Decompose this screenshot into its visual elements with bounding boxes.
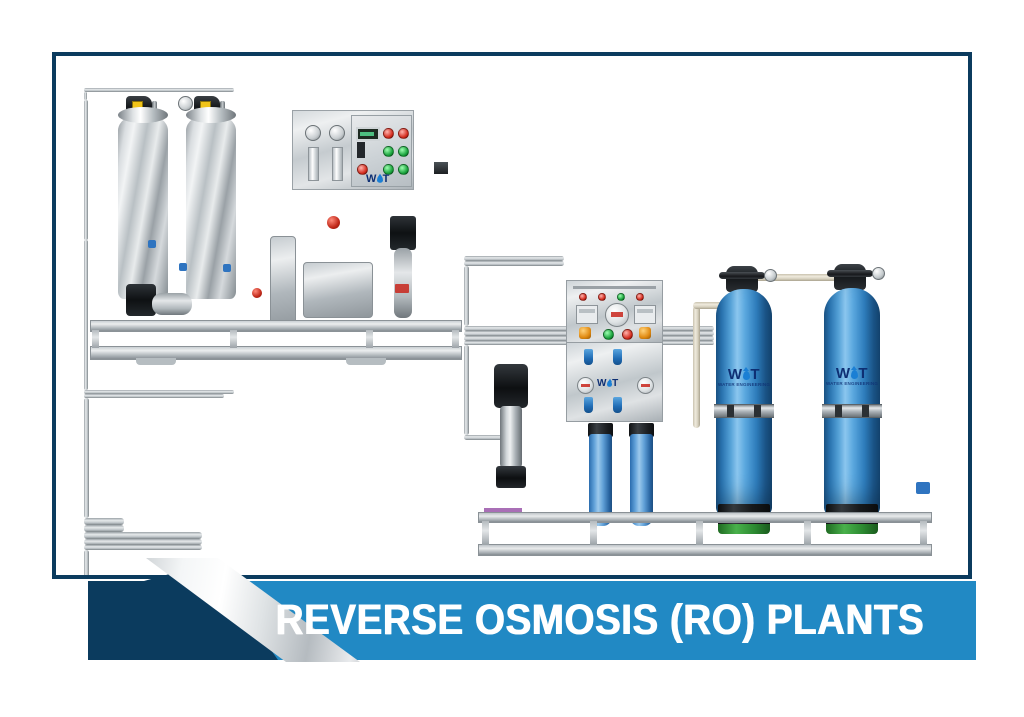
indicator-lamp-green xyxy=(603,329,614,340)
logo-t: T xyxy=(612,378,619,389)
indicator-lamp xyxy=(579,293,587,301)
rotameter xyxy=(332,147,343,181)
skid-leg xyxy=(590,521,597,545)
valve-handle xyxy=(827,270,873,277)
skid-leg xyxy=(482,521,489,545)
valve xyxy=(252,288,262,298)
valve xyxy=(179,263,187,271)
membrane-housing xyxy=(84,518,124,525)
vessel-band xyxy=(714,404,774,418)
skid-leg xyxy=(366,330,373,348)
valve-handle xyxy=(719,272,765,279)
riser-pipe xyxy=(84,100,88,240)
brand-logo-subtext: WATER ENGINEERING xyxy=(824,382,880,387)
indicator-lamp xyxy=(636,293,644,301)
instrument-subpanel: WT xyxy=(351,115,412,187)
high-pressure-pump xyxy=(500,406,522,468)
indicator-lamp xyxy=(617,293,625,301)
riser-pipe xyxy=(464,345,469,435)
indicator-lamp-red xyxy=(383,128,394,139)
vessel-foot xyxy=(718,524,770,534)
brand-logo: WT WATER ENGINEERING xyxy=(824,366,880,387)
frp-vessel-blue: WT WATER ENGINEERING xyxy=(824,288,880,514)
skid-leg xyxy=(92,330,99,348)
booster-pump xyxy=(152,293,192,315)
pump-motor xyxy=(390,216,416,250)
skid-leg xyxy=(452,330,459,348)
red-valve xyxy=(327,216,340,229)
logo-t: T xyxy=(750,366,760,383)
permeate-pipe xyxy=(84,545,202,550)
valve xyxy=(223,264,231,272)
emergency-stop-button xyxy=(639,327,651,339)
indicator-lamp xyxy=(598,293,606,301)
skid-frame-bottom xyxy=(478,544,932,556)
product-image-frame: WT xyxy=(52,52,972,579)
pressure-gauge xyxy=(764,269,777,282)
suction-pipe xyxy=(464,261,564,266)
collection-tank xyxy=(303,262,373,318)
logo-w: W xyxy=(366,173,377,185)
cartridge-filter xyxy=(270,236,296,330)
multiport-valve xyxy=(834,264,866,290)
vessel-foot xyxy=(826,524,878,534)
membrane-housing xyxy=(84,532,202,539)
logo-t: T xyxy=(383,173,390,185)
skid-leg xyxy=(230,330,237,348)
skid-foot xyxy=(346,358,386,365)
skid-leg xyxy=(920,521,927,545)
stainless-pressure-vessel xyxy=(118,114,168,299)
control-panel xyxy=(566,280,663,344)
suction-riser xyxy=(464,266,469,326)
brand-logo: WT WATER ENGINEERING xyxy=(716,367,772,388)
product-photo-plant-1: WT xyxy=(84,88,484,378)
vessel-dome xyxy=(186,107,236,123)
water-drop-icon xyxy=(743,371,751,380)
control-panel: WT xyxy=(292,110,414,190)
brand-logo-subtext: WATER ENGINEERING xyxy=(716,383,772,388)
pressure-gauge xyxy=(872,267,885,280)
valve-knob xyxy=(613,349,622,365)
ball-valve xyxy=(916,482,930,494)
indicator-lamp-red xyxy=(622,329,633,340)
digital-display xyxy=(605,303,629,327)
water-drop-icon xyxy=(377,176,383,183)
gauge-stem xyxy=(84,92,87,100)
indicator-lamp-green xyxy=(398,164,409,175)
valve-knob xyxy=(584,397,593,413)
tds-digital-display xyxy=(356,127,380,141)
pressure-gauge xyxy=(305,125,321,141)
skid-leg xyxy=(696,521,703,545)
brand-logo: WT xyxy=(366,174,390,185)
high-pressure-pump xyxy=(394,248,412,318)
pump-label xyxy=(395,284,409,293)
photo-stage: WT xyxy=(56,56,968,575)
water-drop-icon xyxy=(851,370,859,379)
header-pipe xyxy=(84,88,234,92)
brand-logo: WT xyxy=(597,379,619,389)
indicator-lamp-green xyxy=(398,146,409,157)
pressure-gauge xyxy=(178,96,193,111)
manifold-pipe xyxy=(84,394,224,398)
rotameter xyxy=(308,147,319,181)
valve-knob xyxy=(584,349,593,365)
panel-label-strip xyxy=(573,286,656,289)
valve-panel: WT xyxy=(566,342,663,422)
logo-w: W xyxy=(597,378,607,389)
logo-t: T xyxy=(858,365,868,382)
skid-frame-top xyxy=(90,320,462,332)
pressure-gauge xyxy=(577,377,594,394)
indicator-lamp-red xyxy=(398,128,409,139)
pump-motor xyxy=(494,364,528,408)
skid-leg xyxy=(804,521,811,545)
product-photo-plant-2: WT WATER ENGINEERING WT WATER ENGINEERIN… xyxy=(464,256,964,575)
banner-title: REVERSE OSMOSIS (RO) PLANTS xyxy=(132,581,931,660)
pressure-gauge xyxy=(329,125,345,141)
membrane-support xyxy=(84,398,89,518)
flow-meter xyxy=(634,305,656,324)
banner-blue-bar xyxy=(88,581,976,660)
vessel-band xyxy=(822,404,882,418)
skid-frame-top xyxy=(478,512,932,523)
skid-foot xyxy=(136,358,176,365)
water-drop-icon xyxy=(607,381,612,387)
logo-w: W xyxy=(728,366,743,383)
vessel-dome xyxy=(118,107,168,123)
membrane-housing xyxy=(84,525,124,532)
riser-pipe xyxy=(84,240,88,390)
indicator-lamp-green xyxy=(383,146,394,157)
pump-base xyxy=(496,466,526,488)
riser-pipe xyxy=(84,550,89,575)
valve-knob xyxy=(613,397,622,413)
page-canvas: WT xyxy=(0,0,1024,717)
sample-valve xyxy=(148,240,156,248)
logo-w: W xyxy=(836,365,851,382)
raw-water-pipe xyxy=(693,306,700,428)
frp-vessel-blue: WT WATER ENGINEERING xyxy=(716,289,772,514)
flow-meter xyxy=(576,305,598,324)
toggle-switch xyxy=(357,142,365,158)
instrument-head xyxy=(434,162,448,174)
pressure-gauge xyxy=(637,377,654,394)
emergency-stop-button xyxy=(579,327,591,339)
